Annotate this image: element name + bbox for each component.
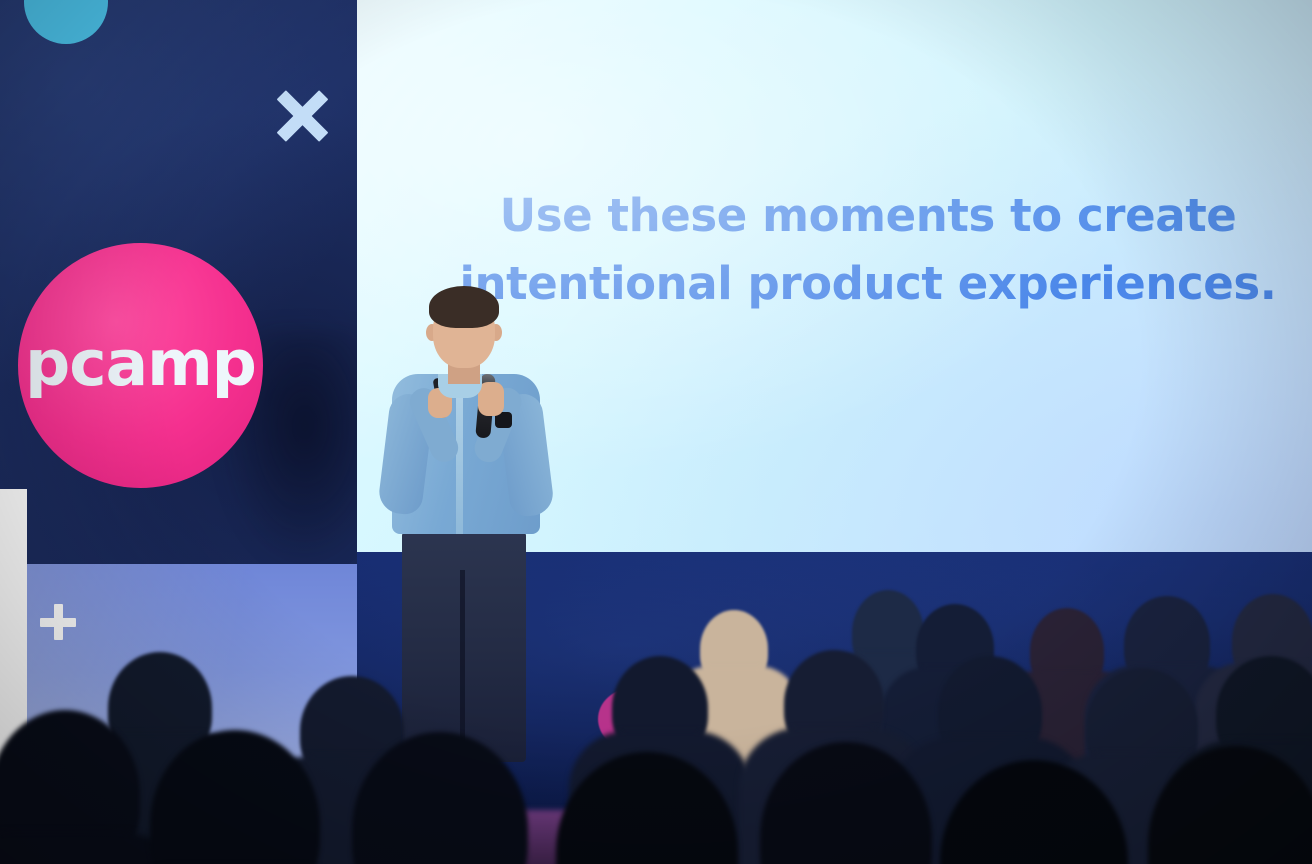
slide-headline: Use these moments to create intentional …	[453, 182, 1283, 319]
speaker-shirt-placket	[456, 388, 463, 534]
conference-stage-photo: pcamp Use these moments to create intent…	[0, 0, 1312, 864]
pcamp-logo-text: pcamp	[25, 332, 256, 395]
pink-circle-decoration	[598, 688, 668, 750]
white-panel-left	[0, 489, 27, 833]
speaker-right-hand	[478, 382, 504, 416]
slide-line-2: intentional product experiences.	[453, 250, 1283, 318]
plus-mark-icon	[40, 604, 76, 640]
slide-line-1: Use these moments to create	[500, 189, 1237, 242]
speaker-trousers	[402, 530, 526, 762]
pcamp-logo: pcamp	[18, 243, 263, 488]
speaker-hair	[429, 286, 499, 328]
speaker-figure	[378, 278, 560, 768]
x-mark-icon	[272, 86, 332, 146]
